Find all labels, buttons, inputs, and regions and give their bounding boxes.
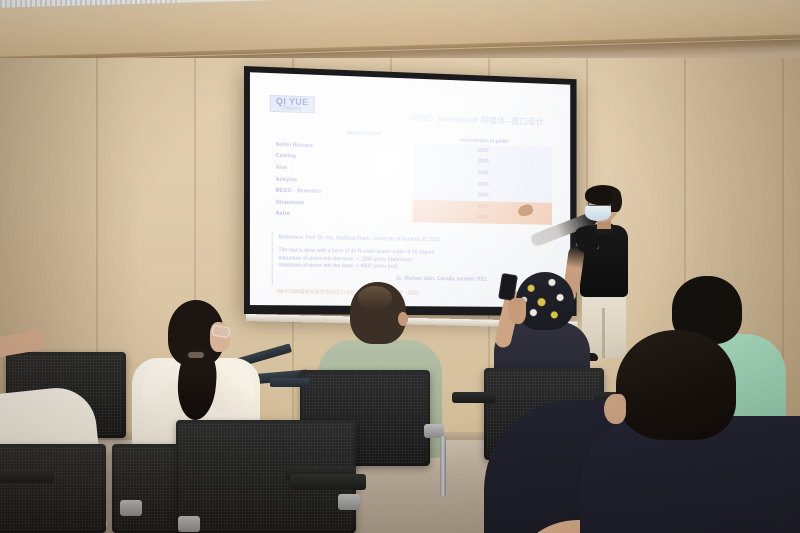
row-system-label: BEGO - Semados: [270, 188, 405, 197]
row-system-label: Camlog: [270, 153, 405, 163]
presenter-hair-side: [611, 190, 622, 212]
chair-front-far-left: [0, 444, 106, 533]
qiyue-logo: QI YUE 齐悦医疗科技: [270, 95, 315, 113]
audience-member-dark-navy-right: [580, 330, 800, 533]
row-system-label: Xive: [270, 165, 405, 174]
tablet-arm-desk: [290, 474, 366, 490]
row-value: 1500: [413, 191, 552, 200]
column-header-implantsystem: Implantsystem: [311, 129, 417, 138]
slide-content: QI YUE 齐悦医疗科技 BEGO Semados® 种植体--接口设计 Im…: [264, 93, 556, 295]
row-system-label: Straumann: [270, 199, 405, 208]
row-value: 2000: [413, 168, 552, 177]
slide-title: BEGO Semados® 种植体--接口设计: [409, 112, 558, 129]
chair-armrest: [0, 470, 54, 483]
row-value: 2000: [413, 180, 552, 189]
hair-tie: [188, 352, 204, 358]
chair-hinge: [178, 516, 200, 532]
face-mask-icon: [585, 205, 611, 221]
chair-post: [440, 436, 446, 496]
chair-hinge: [120, 500, 142, 516]
presentation-scene: QI YUE 齐悦医疗科技 BEGO Semados® 种植体--接口设计 Im…: [0, 0, 800, 533]
ear: [398, 312, 408, 326]
note-line-3: maximum of stress into the bone: > 4000 …: [279, 262, 399, 269]
logo-sub-text: 齐悦医疗科技: [283, 106, 302, 111]
row-system-label: Ankylos: [270, 176, 405, 185]
chair-mesh: [0, 447, 103, 530]
row-value: 4000: [413, 214, 552, 223]
row-system-label: Astra: [270, 211, 405, 220]
reference-line: Reference: Prof. Dr.-Ing. Matthias Flach…: [279, 235, 440, 244]
face: [508, 298, 526, 324]
chair-hinge: [338, 494, 360, 510]
implant-stress-table: Nobel Biocare 1500 Camlog 2000 Xive: [270, 139, 551, 225]
head-hair: [616, 330, 736, 440]
note-line-2: minumum of stress into the bone: < 1000 …: [279, 255, 412, 263]
ear: [604, 394, 626, 424]
hair-highlight: [358, 286, 392, 310]
tablet-arm-desk: [270, 378, 310, 387]
